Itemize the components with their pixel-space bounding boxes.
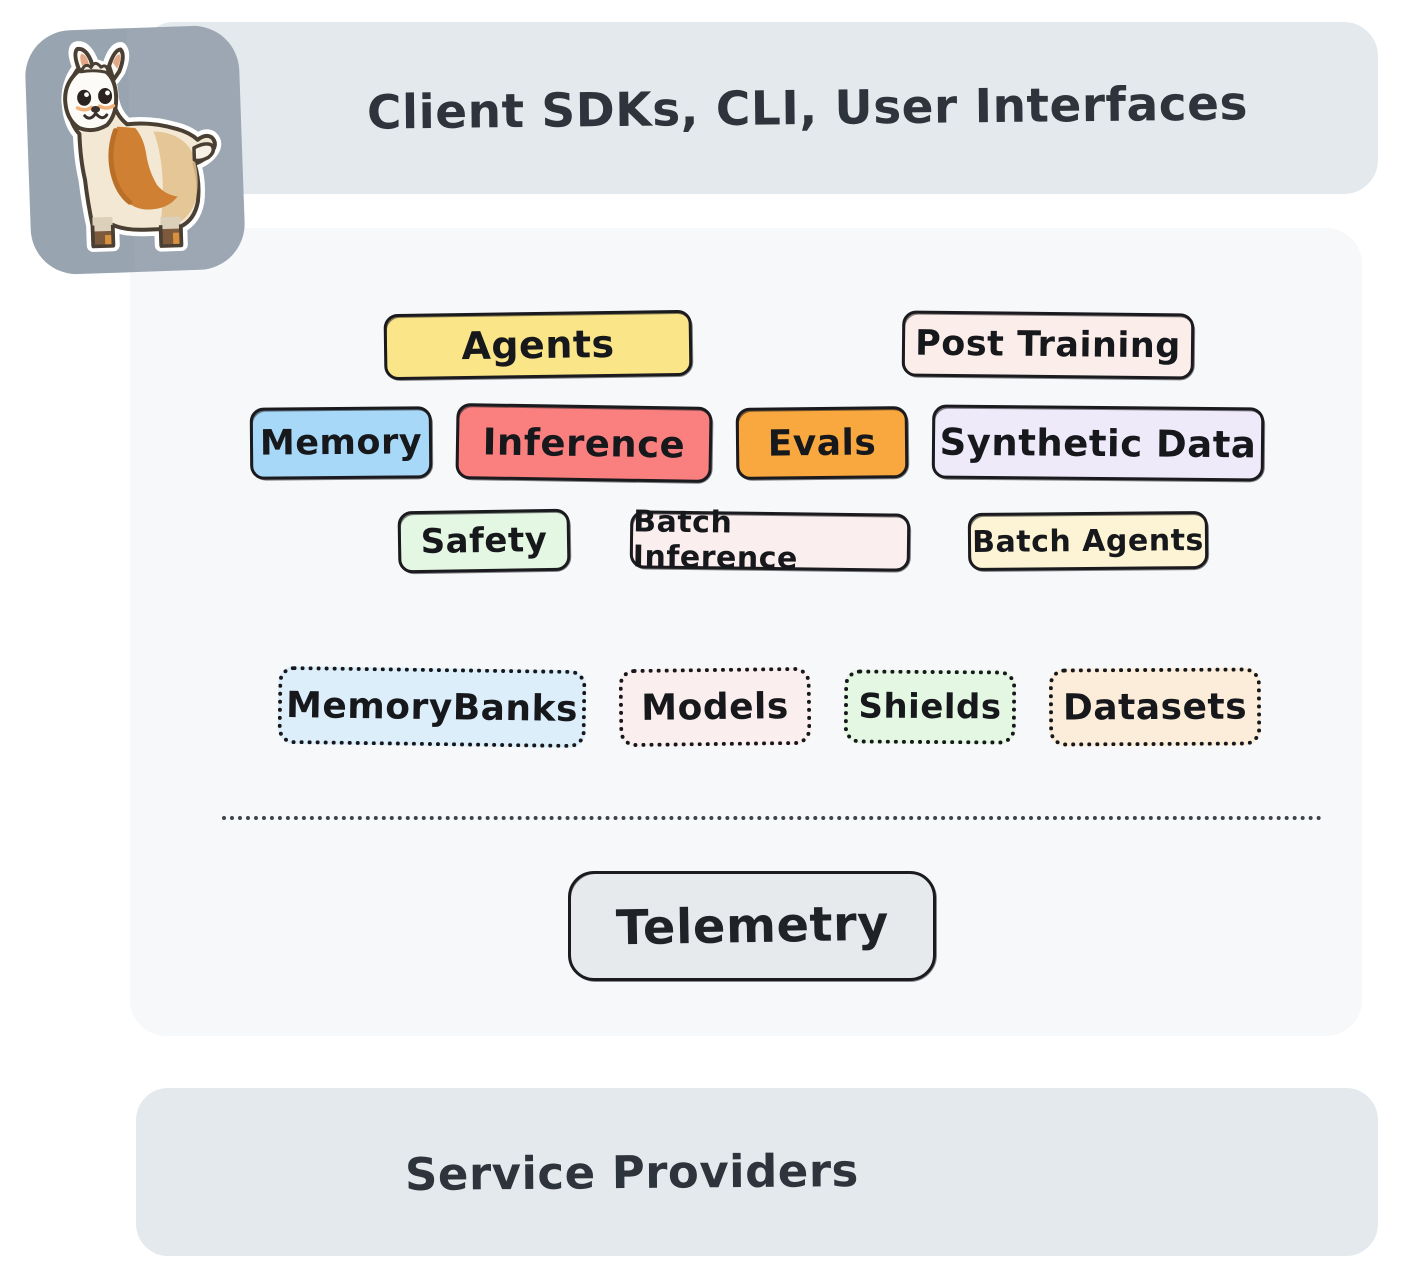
llama-logo-icon (24, 24, 246, 275)
api-box-post-training[interactable]: Post Training (902, 310, 1195, 379)
api-box-batch-inference[interactable]: Batch Inference (630, 510, 911, 571)
api-box-label: Inference (482, 420, 685, 466)
api-box-evals[interactable]: Evals (736, 406, 909, 480)
footer-title: Service Providers (405, 1144, 859, 1201)
api-box-inference[interactable]: Inference (455, 403, 712, 483)
main-panel: Agents Post Training Memory Inference Ev… (130, 228, 1362, 1036)
resource-box-label: Datasets (1063, 686, 1247, 728)
footer-panel: Service Providers (136, 1088, 1378, 1256)
resource-box-label: MemoryBanks (286, 684, 578, 729)
api-box-safety[interactable]: Safety (398, 509, 571, 574)
resource-box-datasets[interactable]: Datasets (1049, 667, 1261, 746)
section-divider (222, 816, 1322, 820)
api-box-synthetic-data[interactable]: Synthetic Data (932, 405, 1265, 482)
api-box-label: Synthetic Data (939, 420, 1256, 466)
api-box-label: Batch Inference (633, 504, 908, 577)
api-box-label: Post Training (915, 324, 1181, 367)
api-row-2: Memory Inference Evals Synthetic Data (250, 405, 1264, 481)
telemetry-box[interactable]: Telemetry (568, 871, 936, 981)
api-row-3: Safety Batch Inference Batch Agents (398, 510, 1208, 572)
api-box-memory[interactable]: Memory (250, 406, 433, 479)
llama-illustration-icon (32, 35, 240, 266)
header-panel: Client SDKs, CLI, User Interfaces (140, 22, 1378, 194)
api-box-label: Agents (461, 322, 615, 368)
api-box-agents[interactable]: Agents (384, 310, 693, 380)
api-box-label: Batch Agents (972, 522, 1204, 559)
api-box-label: Evals (767, 422, 876, 464)
api-box-label: Memory (260, 422, 422, 463)
resource-box-memorybanks[interactable]: MemoryBanks (277, 666, 586, 748)
resource-box-shields[interactable]: Shields (844, 669, 1017, 744)
telemetry-label: Telemetry (615, 896, 889, 957)
page-title: Client SDKs, CLI, User Interfaces (366, 76, 1247, 140)
resource-box-models[interactable]: Models (619, 667, 812, 747)
api-row-1: Agents Post Training (384, 312, 1194, 378)
api-box-batch-agents[interactable]: Batch Agents (968, 511, 1208, 571)
resource-row: MemoryBanks Models Shields Datasets (278, 668, 1261, 746)
api-box-label: Safety (420, 520, 547, 562)
resource-box-label: Models (641, 686, 789, 729)
resource-box-label: Shields (858, 687, 1001, 728)
